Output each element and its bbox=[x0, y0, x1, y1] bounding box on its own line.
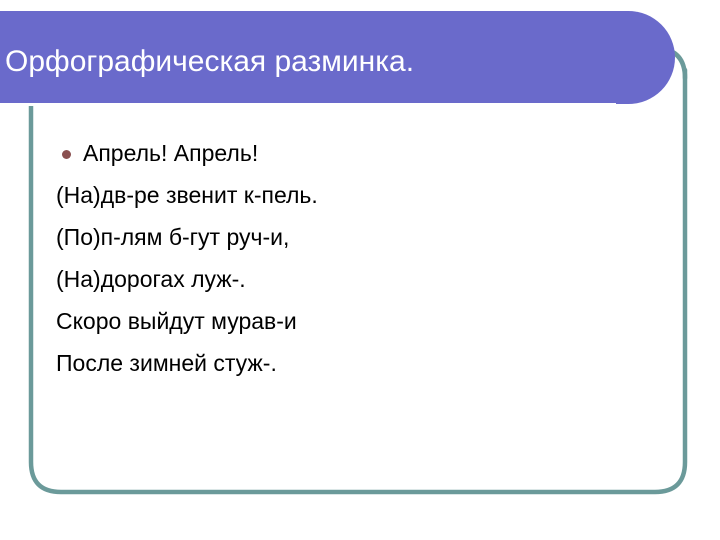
body-line-text: (По)п-лям б-гут руч-и, bbox=[56, 224, 289, 250]
slide-body: Апрель! Апрель! (На)дв-ре звенит к-пель.… bbox=[56, 132, 656, 384]
body-line: (На)дорогах луж-. bbox=[56, 258, 656, 300]
bullet-icon bbox=[62, 150, 71, 159]
body-line-text: (На)дв-ре звенит к-пель. bbox=[56, 182, 318, 208]
title-underline-rule bbox=[0, 103, 616, 106]
body-line-text: (На)дорогах луж-. bbox=[56, 266, 246, 292]
body-line-text: После зимней стуж-. bbox=[56, 350, 277, 376]
slide-canvas: Орфографическая разминка. Апрель! Апрель… bbox=[0, 0, 720, 540]
body-line: Апрель! Апрель! bbox=[56, 132, 656, 174]
body-line: (На)дв-ре звенит к-пель. bbox=[56, 174, 656, 216]
title-banner: Орфографическая разминка. bbox=[0, 11, 675, 104]
body-line-text: Апрель! Апрель! bbox=[83, 140, 258, 166]
body-line: После зимней стуж-. bbox=[56, 342, 656, 384]
page-title: Орфографическая разминка. bbox=[5, 44, 625, 80]
body-line-text: Скоро выйдут мурав-и bbox=[56, 308, 297, 334]
body-line: Скоро выйдут мурав-и bbox=[56, 300, 656, 342]
body-line: (По)п-лям б-гут руч-и, bbox=[56, 216, 656, 258]
